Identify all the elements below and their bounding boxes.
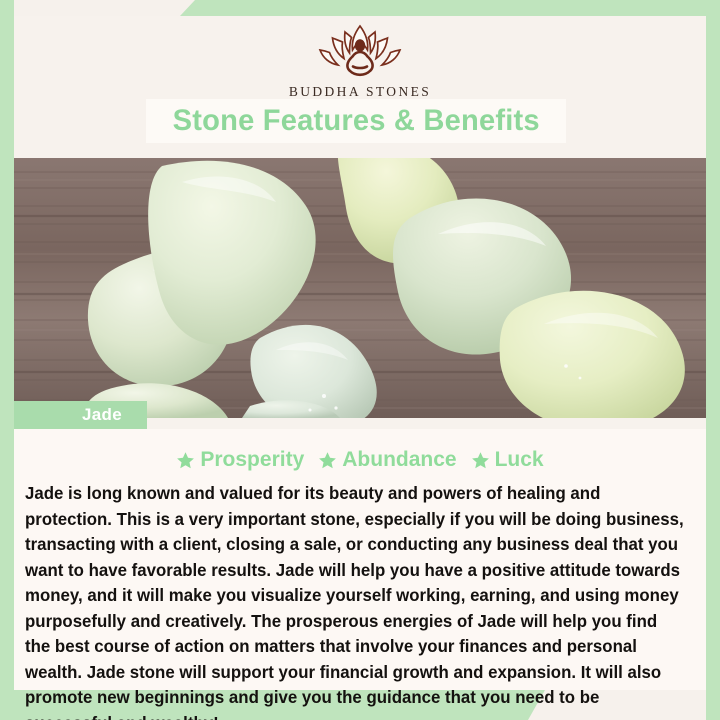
decorative-top-band	[0, 0, 720, 16]
decorative-right-band	[706, 0, 720, 720]
brand-header: BUDDHA STONES	[14, 16, 706, 112]
stone-name-bar: Jade	[14, 401, 147, 429]
stone-name: Jade	[14, 405, 122, 425]
title-banner: Stone Features & Benefits	[146, 99, 566, 143]
stone-info-card: BUDDHA STONES	[0, 0, 720, 720]
benefit-item: Abundance	[318, 448, 456, 472]
jade-stones-photo	[14, 158, 706, 418]
benefits-row: Prosperity Abundance Luck	[14, 443, 706, 477]
benefit-label: Prosperity	[200, 448, 304, 472]
star-icon	[471, 451, 490, 470]
benefit-label: Abundance	[342, 448, 456, 472]
star-icon	[176, 451, 195, 470]
decorative-left-band	[0, 0, 14, 720]
lotus-meditation-figure-icon	[294, 20, 426, 86]
brand-name: BUDDHA STONES	[289, 84, 431, 100]
page-title: Stone Features & Benefits	[172, 104, 539, 138]
hero-image	[14, 158, 706, 418]
benefit-item: Luck	[471, 448, 544, 472]
body-panel: Prosperity Abundance Luck Jade is long k…	[14, 429, 706, 690]
benefit-item: Prosperity	[176, 448, 304, 472]
stone-description: Jade is long known and valued for its be…	[25, 481, 685, 720]
star-icon	[318, 451, 337, 470]
benefit-label: Luck	[495, 448, 544, 472]
